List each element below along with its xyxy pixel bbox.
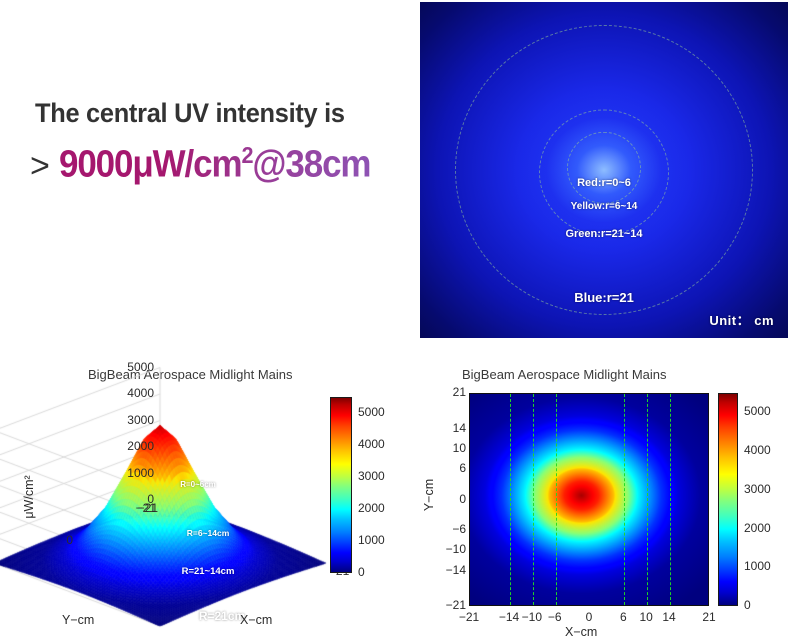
- heatmap-colorbar-tick: 1000: [744, 559, 771, 573]
- headline-value-suffix: @38cm: [252, 144, 370, 186]
- surface-3d-colorbar: [330, 397, 352, 573]
- heatmap-xtick: 10: [639, 610, 652, 624]
- surface-ztick: 3000: [127, 413, 154, 427]
- heatmap-ytick: 14: [453, 421, 466, 435]
- heatmap-xtick: −6: [548, 610, 562, 624]
- uv-label-red: Red:r=0~6: [577, 177, 631, 189]
- surface-colorbar-tick: 3000: [358, 469, 385, 483]
- heatmap-2d-yaxis-label: Y−cm: [422, 465, 436, 525]
- headline-value-superscript: 2: [241, 142, 252, 168]
- heatmap-colorbar-tick: 5000: [744, 404, 771, 418]
- surface-annotation: R=0~6cm: [180, 480, 216, 489]
- headline-block: The central UV intensity is > 9000μW/cm2…: [0, 88, 410, 198]
- heatmap-xtick: −14: [499, 610, 519, 624]
- page-root: The central UV intensity is > 9000μW/cm2…: [0, 0, 799, 642]
- surface-annotation: R=21~14cm: [182, 566, 235, 577]
- heatmap-ytick: −6: [452, 522, 466, 536]
- surface-3d-zaxis-label: μW/cm²: [22, 462, 36, 532]
- surface-ztick: 2000: [127, 439, 154, 453]
- uv-ring-outer-dashed-circle: [455, 25, 753, 315]
- heatmap-dashed-line: [647, 394, 648, 605]
- uv-unit-label: Unit： cm: [709, 310, 774, 329]
- heatmap-dashed-line: [510, 394, 511, 605]
- heatmap-dashed-line: [624, 394, 625, 605]
- uv-ring-mid-dashed-circle: [539, 110, 669, 236]
- surface-annotation: R=21cm: [199, 609, 245, 623]
- heatmap-xtick: −21: [459, 610, 479, 624]
- surface-colorbar-tick: 4000: [358, 437, 385, 451]
- surface-ztick: 5000: [127, 360, 154, 374]
- uv-ring-inner-dashed-circle: [567, 132, 641, 204]
- headline-value-row: > 9000μW/cm2@38cm: [30, 142, 397, 187]
- uv-label-blue: Blue:r=21: [574, 290, 634, 305]
- heatmap-xtick: 0: [586, 610, 593, 624]
- heatmap-2d-xaxis-label: X−cm: [565, 625, 597, 639]
- heatmap-colorbar-tick: 2000: [744, 521, 771, 535]
- heatmap-xtick: −10: [522, 610, 542, 624]
- surface-3d-plot: BigBeam Aerospace Midlight Mains μW/cm² …: [0, 358, 400, 642]
- heatmap-colorbar-tick: 3000: [744, 482, 771, 496]
- surface-annotation: R=6~14cm: [187, 528, 230, 538]
- heatmap-xtick: 14: [662, 610, 675, 624]
- surface-colorbar-tick: 5000: [358, 405, 385, 419]
- heatmap-ytick: −14: [446, 563, 466, 577]
- uv-beam-photo: Red:r=0~6 Yellow:r=6~14 Green:r=21~14 Bl…: [420, 2, 788, 338]
- surface-3d-yaxis-label: Y−cm: [62, 613, 94, 627]
- heatmap-ytick: 6: [459, 461, 466, 475]
- heatmap-ytick: 10: [453, 441, 466, 455]
- surface-colorbar-tick: 0: [358, 565, 365, 579]
- headline-value-prefix: 9000μW/cm: [59, 144, 241, 186]
- heatmap-2d-title: BigBeam Aerospace Midlight Mains: [462, 367, 667, 382]
- heatmap-2d-plot: BigBeam Aerospace Midlight Mains Y−cm X−…: [400, 358, 799, 642]
- heatmap-ytick: 21: [453, 385, 466, 399]
- heatmap-xtick: 21: [702, 610, 715, 624]
- surface-colorbar-tick: 1000: [358, 533, 385, 547]
- headline-primary-text: The central UV intensity is: [35, 98, 345, 129]
- headline-intensity-value: 9000μW/cm2@38cm: [59, 142, 370, 187]
- surface-ztick: 1000: [127, 466, 154, 480]
- surface-xtick: −21: [138, 501, 158, 515]
- surface-ytick: 0: [66, 533, 73, 547]
- heatmap-2d-canvas: [470, 394, 709, 606]
- heatmap-2d-image: [469, 393, 709, 606]
- surface-colorbar-tick: 2000: [358, 501, 385, 515]
- heatmap-ytick: −10: [446, 542, 466, 556]
- heatmap-colorbar-tick: 4000: [744, 443, 771, 457]
- heatmap-xtick: 6: [620, 610, 627, 624]
- heatmap-dashed-line: [670, 394, 671, 605]
- greater-than-symbol: >: [30, 147, 50, 186]
- uv-label-yellow: Yellow:r=6~14: [571, 201, 638, 212]
- surface-3d-xaxis-label: X−cm: [240, 613, 272, 627]
- heatmap-ytick: 0: [459, 492, 466, 506]
- heatmap-dashed-line: [556, 394, 557, 605]
- heatmap-dashed-line: [533, 394, 534, 605]
- uv-label-green: Green:r=21~14: [565, 228, 642, 240]
- heatmap-2d-colorbar: [718, 393, 738, 606]
- surface-ztick: 4000: [127, 386, 154, 400]
- heatmap-colorbar-tick: 0: [744, 598, 751, 612]
